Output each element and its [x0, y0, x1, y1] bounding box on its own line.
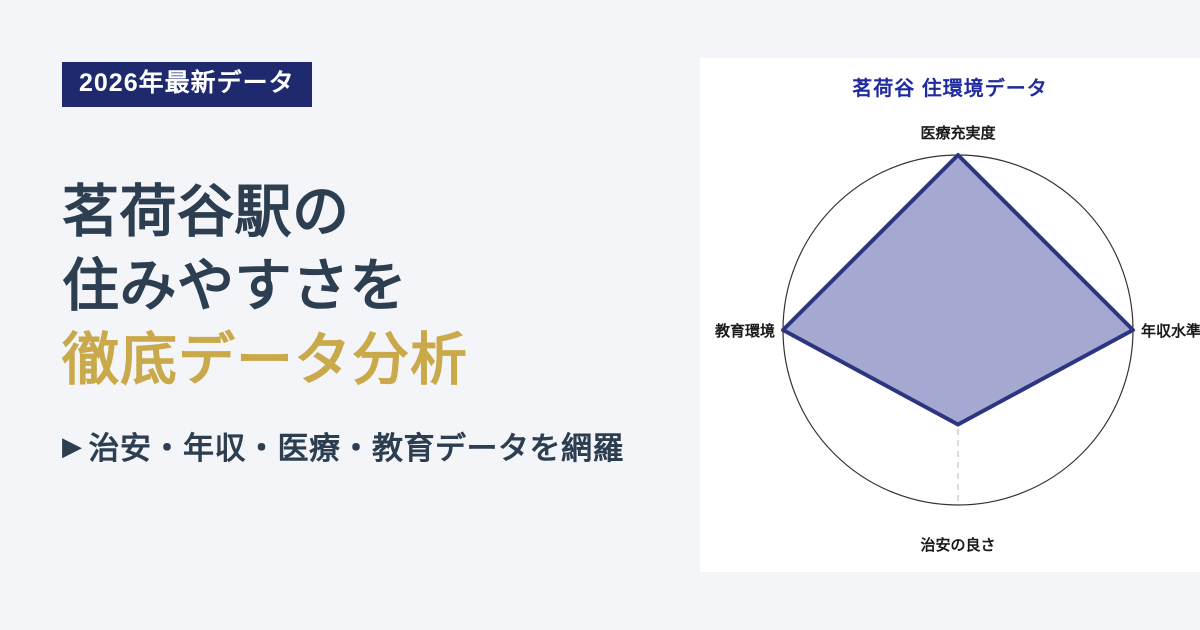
- headline-line-2: 住みやすさを: [62, 249, 700, 323]
- eyebrow-badge: 2026年最新データ: [62, 62, 312, 107]
- radar-data-polygon: [783, 155, 1133, 425]
- axis-label-top: 医療充実度: [920, 124, 996, 142]
- axis-label-left: 教育環境: [714, 322, 775, 340]
- subtitle-text: 治安・年収・医療・教育データを網羅: [89, 423, 625, 468]
- axis-label-bottom: 治安の良さ: [920, 536, 995, 554]
- page-title: 茗荷谷駅の 住みやすさを 徹底データ分析: [62, 175, 700, 397]
- headline-line-1: 茗荷谷駅の: [62, 175, 700, 249]
- headline-line-3-accent: 徹底データ分析: [62, 323, 700, 397]
- hero-left-column: 2026年最新データ 茗荷谷駅の 住みやすさを 徹底データ分析 ▶ 治安・年収・…: [0, 0, 700, 630]
- radar-chart-panel: 茗荷谷 住環境データ 医療充実度 年収水準 治安の良さ 教育環境: [700, 58, 1200, 572]
- axis-label-right: 年収水準: [1141, 322, 1200, 340]
- play-triangle-icon: ▶: [62, 433, 83, 459]
- subtitle: ▶ 治安・年収・医療・教育データを網羅: [62, 423, 700, 468]
- radar-chart-svg: 医療充実度 年収水準 治安の良さ 教育環境: [700, 58, 1200, 572]
